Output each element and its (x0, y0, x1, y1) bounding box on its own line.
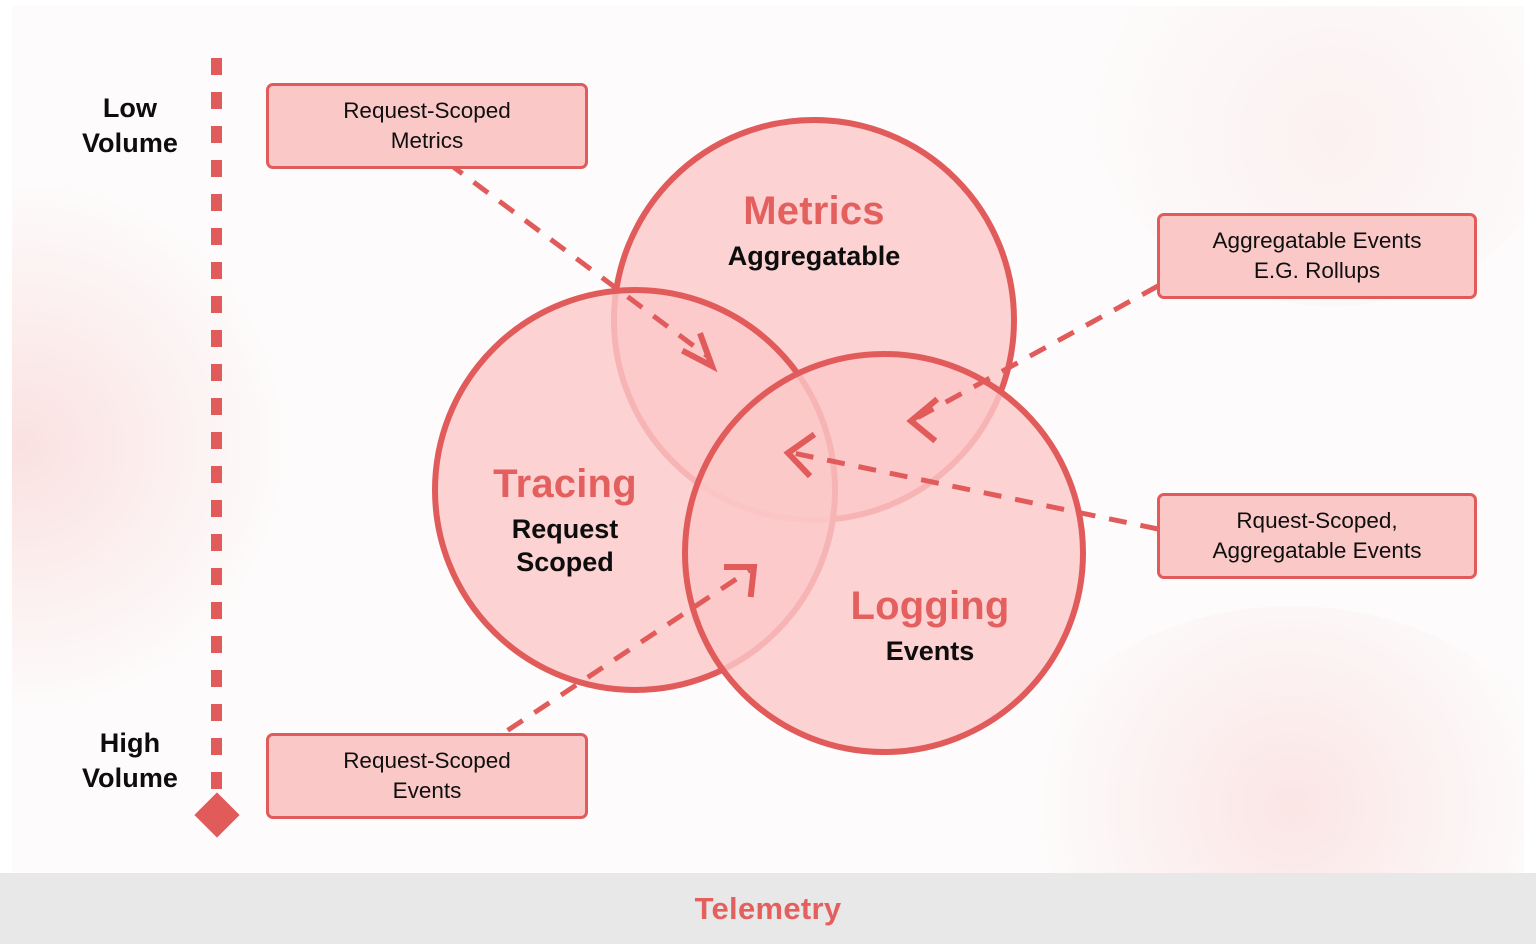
callout-rsm-line1: Request-Scoped (343, 96, 511, 126)
callout-agg-line2: E.G. Rollups (1213, 256, 1422, 286)
callout-rse-line2: Events (343, 776, 511, 806)
callout-request-scoped-metrics[interactable]: Request-Scoped Metrics (266, 83, 588, 169)
venn-diagram: .vc { fill:#fbc8c8; fill-opacity:.82; st… (12, 6, 1524, 873)
venn-title-metrics: Metrics (644, 189, 984, 233)
callout-rsa-line2: Aggregatable Events (1213, 536, 1422, 566)
axis-label-high-line1: High (30, 726, 230, 761)
venn-subtitle-tracing: Request Scoped (395, 513, 735, 580)
callout-rse-line1: Request-Scoped (343, 746, 511, 776)
callout-rsa-line1: Rquest-Scoped, (1213, 506, 1422, 536)
venn-label-metrics: Metrics Aggregatable (644, 189, 984, 273)
volume-axis-line (211, 58, 222, 808)
footer-bar: Telemetry (0, 873, 1536, 944)
axis-label-high-line2: Volume (30, 761, 230, 796)
venn-title-tracing: Tracing (395, 462, 735, 506)
venn-subtitle-tracing-line1: Request (395, 513, 735, 546)
axis-label-high-volume: High Volume (30, 726, 230, 795)
footer-label-telemetry: Telemetry (695, 891, 842, 927)
axis-label-low-volume: Low Volume (30, 91, 230, 160)
venn-circle-logging[interactable] (685, 354, 1083, 752)
axis-label-low-line2: Volume (30, 126, 230, 161)
callout-aggregatable-events[interactable]: Aggregatable Events E.G. Rollups (1157, 213, 1477, 299)
callout-rsm-line2: Metrics (343, 126, 511, 156)
callout-request-scoped-events[interactable]: Request-Scoped Events (266, 733, 588, 819)
axis-label-low-line1: Low (30, 91, 230, 126)
venn-subtitle-metrics: Aggregatable (644, 240, 984, 273)
callout-request-scoped-aggregatable-events[interactable]: Rquest-Scoped, Aggregatable Events (1157, 493, 1477, 579)
venn-subtitle-logging: Events (760, 635, 1100, 668)
venn-title-logging: Logging (760, 584, 1100, 628)
diagram-canvas: .vc { fill:#fbc8c8; fill-opacity:.82; st… (12, 6, 1524, 873)
venn-label-logging: Logging Events (760, 584, 1100, 668)
venn-subtitle-tracing-line2: Scoped (395, 546, 735, 579)
venn-label-tracing: Tracing Request Scoped (395, 462, 735, 580)
diagram-root: .vc { fill:#fbc8c8; fill-opacity:.82; st… (0, 0, 1536, 944)
callout-agg-line1: Aggregatable Events (1213, 226, 1422, 256)
